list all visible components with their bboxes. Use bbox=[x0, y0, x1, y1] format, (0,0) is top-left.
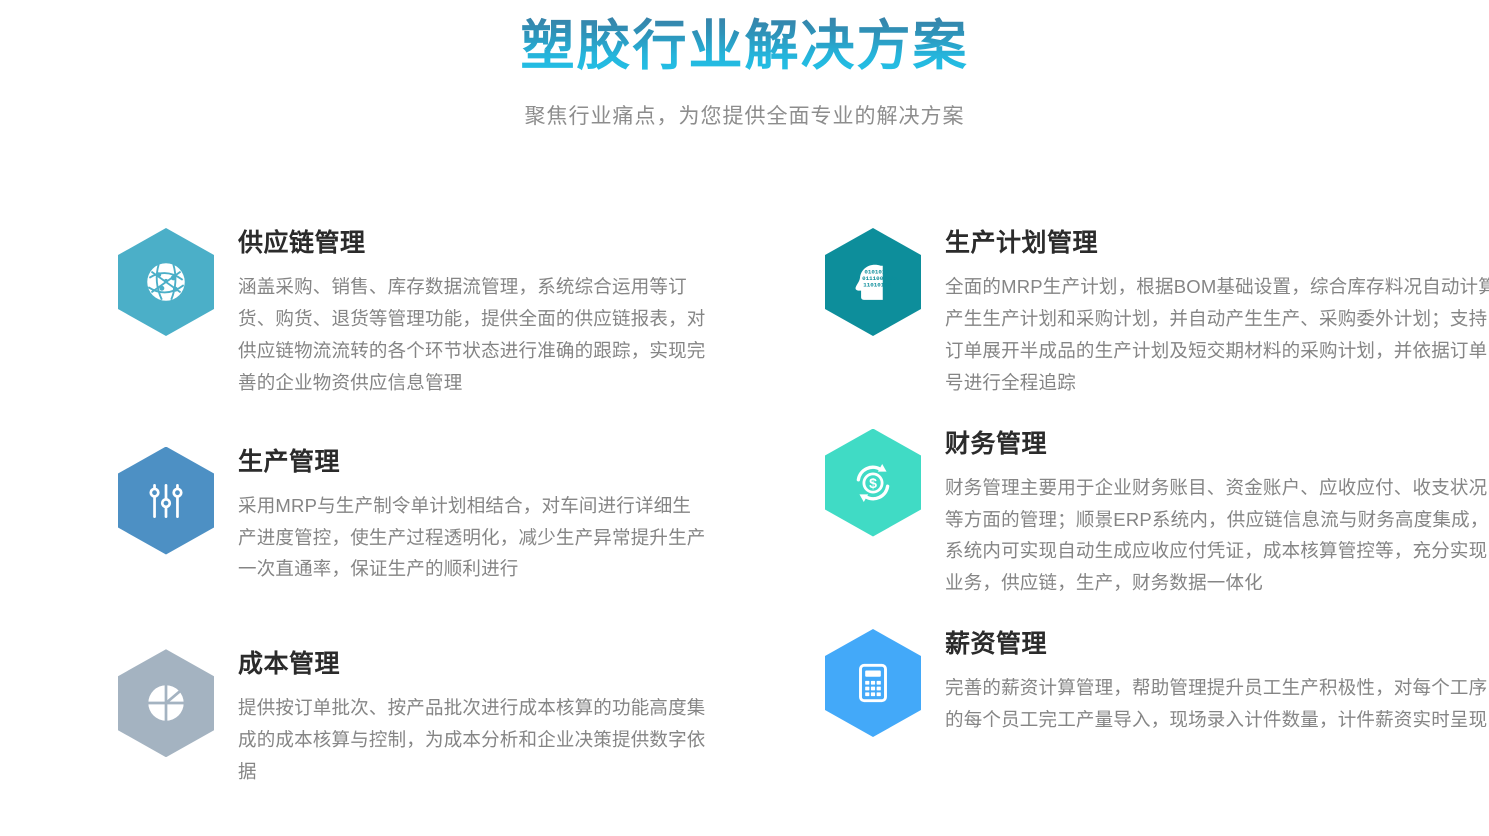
currency-refresh-icon: $ bbox=[847, 457, 899, 509]
feature-text: 生产计划管理 全面的MRP生产计划，根据BOM基础设置，综合库存料况自动计算产生… bbox=[945, 228, 1489, 399]
svg-text:$: $ bbox=[869, 474, 877, 490]
hexagon-badge bbox=[118, 228, 214, 336]
feature-text: 成本管理 提供按订单批次、按产品批次进行成本核算的功能高度集成的成本核算与控制，… bbox=[238, 649, 768, 788]
calculator-icon bbox=[848, 658, 898, 708]
feature-description: 财务管理主要用于企业财务账目、资金账户、应收应付、收支状况等方面的管理；顺景ER… bbox=[945, 472, 1489, 599]
feature-icon-wrapper: 0101010 0111000101 11010111 bbox=[825, 228, 921, 336]
hexagon-badge bbox=[118, 649, 214, 757]
feature-icon-wrapper bbox=[118, 649, 214, 757]
hexagon-badge: 0101010 0111000101 11010111 bbox=[825, 228, 921, 336]
feature-icon-wrapper bbox=[825, 629, 921, 737]
feature-title: 生产管理 bbox=[238, 447, 768, 478]
head-binary-icon: 0101010 0111000101 11010111 bbox=[847, 256, 899, 308]
feature-text: 生产管理 采用MRP与生产制令单计划相结合，对车间进行详细生产进度管控，使生产过… bbox=[238, 447, 768, 586]
feature-icon-wrapper bbox=[118, 228, 214, 336]
feature-grid: 供应链管理 涵盖采购、销售、库存数据流管理，系统综合运用等订货、购货、退货等管理… bbox=[0, 228, 1489, 788]
feature-title: 供应链管理 bbox=[238, 228, 768, 259]
feature-title: 成本管理 bbox=[238, 649, 768, 680]
hexagon-badge bbox=[825, 629, 921, 737]
feature-title: 财务管理 bbox=[945, 429, 1489, 460]
feature-title: 薪资管理 bbox=[945, 629, 1489, 660]
feature-description: 完善的薪资计算管理，帮助管理提升员工生产积极性，对每个工序的每个员工完工产量导入… bbox=[945, 672, 1489, 736]
sliders-icon bbox=[141, 476, 191, 526]
feature-card-supply-chain[interactable]: 供应链管理 涵盖采购、销售、库存数据流管理，系统综合运用等订货、购货、退货等管理… bbox=[118, 228, 768, 399]
feature-description: 提供按订单批次、按产品批次进行成本核算的功能高度集成的成本核算与控制，为成本分析… bbox=[238, 692, 708, 787]
feature-icon-wrapper bbox=[118, 447, 214, 555]
feature-card-payroll[interactable]: 薪资管理 完善的薪资计算管理，帮助管理提升员工生产积极性，对每个工序的每个员工完… bbox=[825, 629, 1489, 737]
solution-page: 塑胶行业解决方案 聚焦行业痛点，为您提供全面专业的解决方案 bbox=[0, 0, 1489, 836]
pie-chart-icon bbox=[141, 678, 191, 728]
feature-column-left: 供应链管理 涵盖采购、销售、库存数据流管理，系统综合运用等订货、购货、退货等管理… bbox=[118, 228, 768, 788]
page-subtitle: 聚焦行业痛点，为您提供全面专业的解决方案 bbox=[0, 100, 1489, 130]
feature-card-finance[interactable]: $ 财务管理 财务管理主要用于企业财务账目、资金账户、应收应付、收支状况等方面的… bbox=[825, 429, 1489, 600]
hexagon-badge: $ bbox=[825, 429, 921, 537]
page-title: 塑胶行业解决方案 bbox=[521, 14, 969, 80]
feature-card-production[interactable]: 生产管理 采用MRP与生产制令单计划相结合，对车间进行详细生产进度管控，使生产过… bbox=[118, 447, 768, 586]
feature-description: 全面的MRP生产计划，根据BOM基础设置，综合库存料况自动计算产生生产计划和采购… bbox=[945, 271, 1489, 398]
feature-description: 采用MRP与生产制令单计划相结合，对车间进行详细生产进度管控，使生产过程透明化，… bbox=[238, 490, 708, 585]
feature-card-production-planning[interactable]: 0101010 0111000101 11010111 生产计划管理 全面的MR… bbox=[825, 228, 1489, 399]
hexagon-badge bbox=[118, 447, 214, 555]
svg-text:11010111: 11010111 bbox=[863, 281, 892, 288]
feature-text: 供应链管理 涵盖采购、销售、库存数据流管理，系统综合运用等订货、购货、退货等管理… bbox=[238, 228, 768, 399]
globe-network-icon bbox=[141, 257, 191, 307]
feature-description: 涵盖采购、销售、库存数据流管理，系统综合运用等订货、购货、退货等管理功能，提供全… bbox=[238, 271, 708, 398]
page-header: 塑胶行业解决方案 聚焦行业痛点，为您提供全面专业的解决方案 bbox=[0, 0, 1489, 130]
feature-text: 财务管理 财务管理主要用于企业财务账目、资金账户、应收应付、收支状况等方面的管理… bbox=[945, 429, 1489, 600]
feature-title: 生产计划管理 bbox=[945, 228, 1489, 259]
feature-text: 薪资管理 完善的薪资计算管理，帮助管理提升员工生产积极性，对每个工序的每个员工完… bbox=[945, 629, 1489, 736]
feature-card-cost[interactable]: 成本管理 提供按订单批次、按产品批次进行成本核算的功能高度集成的成本核算与控制，… bbox=[118, 649, 768, 788]
feature-column-right: 0101010 0111000101 11010111 生产计划管理 全面的MR… bbox=[825, 228, 1489, 788]
feature-icon-wrapper: $ bbox=[825, 429, 921, 537]
